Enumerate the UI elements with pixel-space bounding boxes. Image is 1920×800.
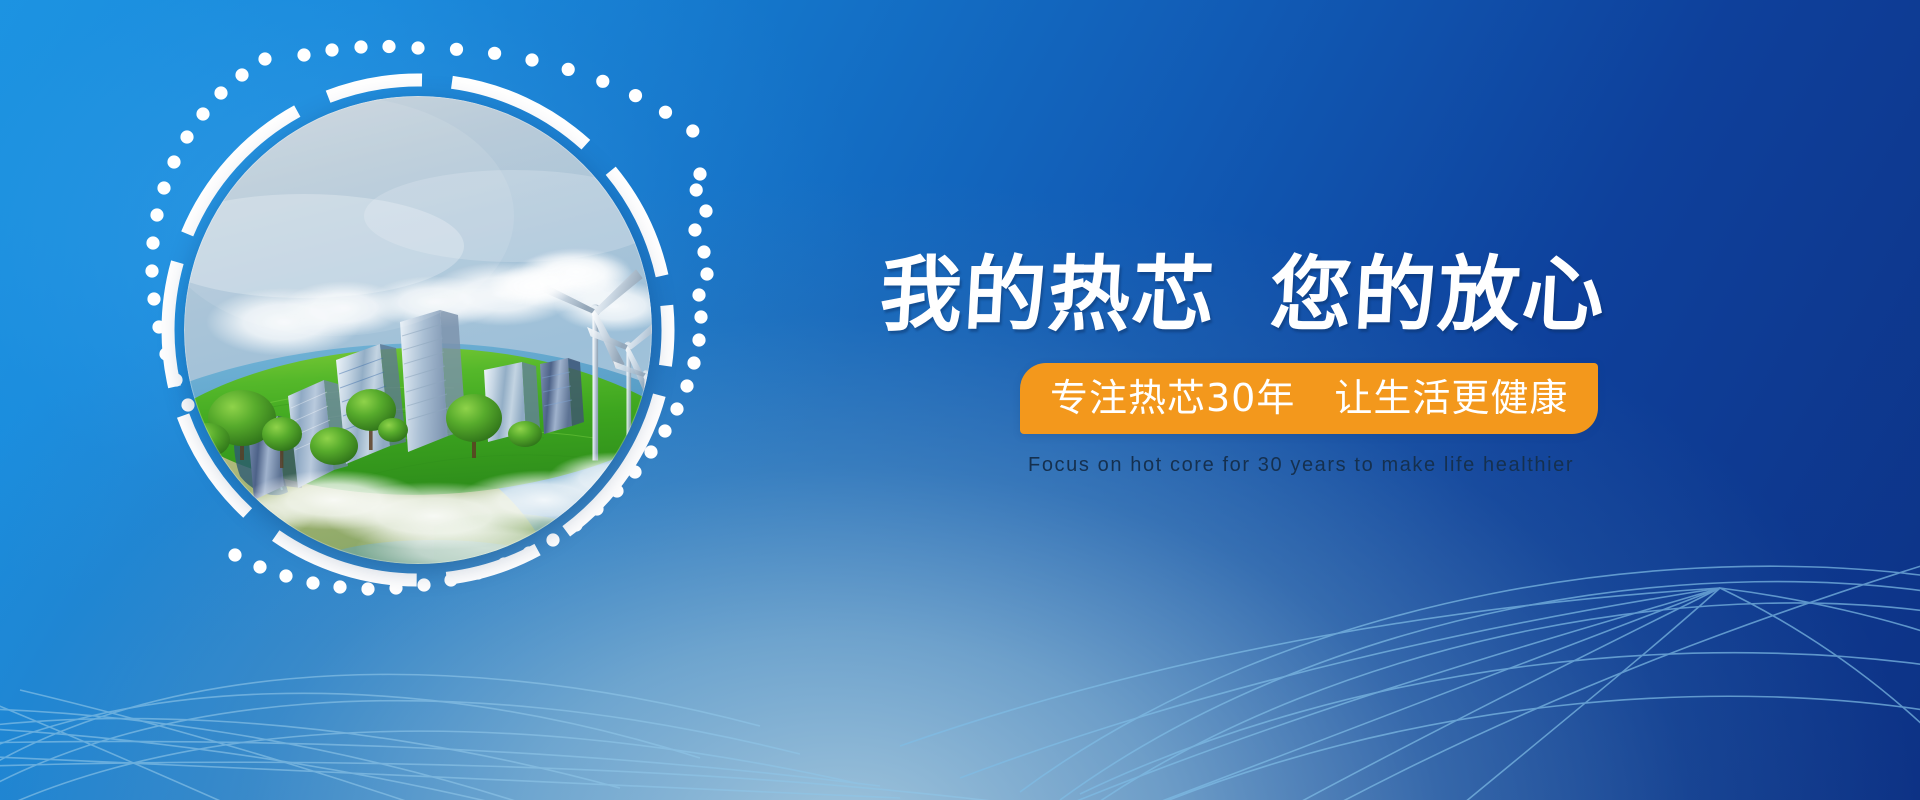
banner-text-block: 我的热芯 您的放心 专注热芯30年 让生活更健康 Focus on hot co… <box>880 255 1680 477</box>
green-earth-illustration <box>184 96 652 564</box>
promo-banner: 我的热芯 您的放心 专注热芯30年 让生活更健康 Focus on hot co… <box>0 0 1920 800</box>
headline-part-2: 您的放心 <box>1268 255 1608 337</box>
circular-emblem <box>118 30 718 630</box>
tagline-badge: 专注热芯30年 让生活更健康 <box>1020 363 1598 434</box>
headline: 我的热芯 您的放心 <box>878 255 1682 337</box>
headline-part-1: 我的热芯 <box>878 255 1218 337</box>
badge-wrapper: 专注热芯30年 让生活更健康 <box>1020 363 1680 434</box>
earth-photo-circle <box>184 96 652 564</box>
english-subtitle: Focus on hot core for 30 years to make l… <box>1028 454 1680 477</box>
